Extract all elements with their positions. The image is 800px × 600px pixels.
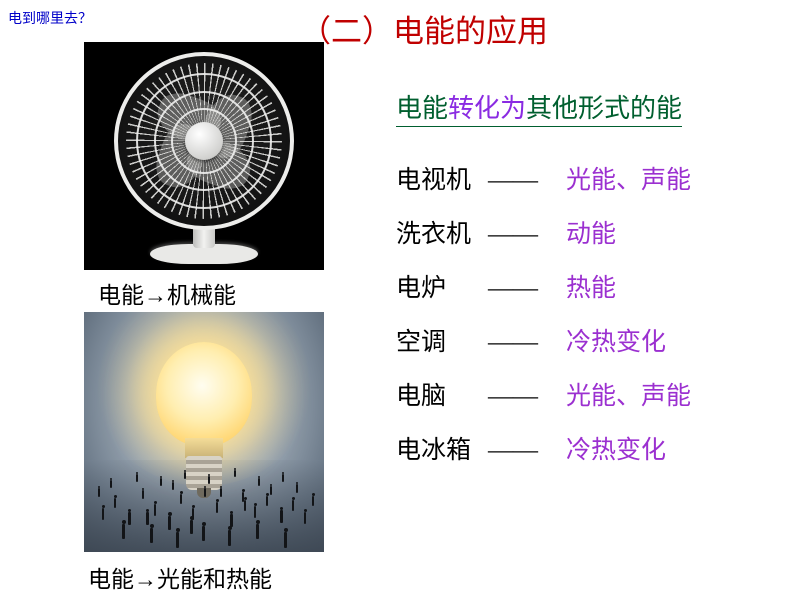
person-head-silhouette [128, 509, 131, 512]
person-head-silhouette [142, 488, 144, 490]
person-silhouette [176, 532, 179, 548]
person-silhouette [128, 512, 131, 525]
appliance-name: 电视机 [396, 160, 488, 196]
list-item: 电视机 —— 光能、声能 [396, 160, 796, 214]
person-head-silhouette [190, 516, 194, 520]
dash-separator: —— [488, 167, 566, 195]
person-silhouette [202, 526, 205, 541]
energy-result: 冷热变化 [566, 430, 796, 466]
person-silhouette [270, 486, 272, 495]
energy-result: 动能 [566, 214, 796, 250]
person-head-silhouette [220, 486, 222, 488]
person-silhouette [142, 490, 144, 499]
person-head-silhouette [216, 499, 219, 502]
person-head-silhouette [230, 511, 233, 514]
person-head-silhouette [312, 493, 315, 496]
person-head-silhouette [168, 512, 172, 516]
person-head-silhouette [254, 503, 257, 506]
dash-separator: —— [488, 329, 566, 357]
appliance-name: 空调 [396, 322, 488, 358]
slide-canvas: 电到哪里去？ （二）电能的应用 电能→机械能 电能→光能和热能 [0, 0, 800, 600]
bulb-glass-shape [156, 342, 252, 446]
person-silhouette [244, 500, 246, 511]
appliance-name: 洗衣机 [396, 214, 488, 250]
dash-separator: —— [488, 275, 566, 303]
person-head-silhouette [208, 474, 210, 476]
person-head-silhouette [98, 486, 100, 488]
person-silhouette [98, 488, 100, 497]
person-head-silhouette [184, 470, 186, 472]
person-silhouette [282, 474, 284, 482]
person-head-silhouette [154, 501, 157, 504]
fan-hub-shape [185, 122, 223, 160]
person-silhouette [122, 524, 125, 539]
person-silhouette [234, 470, 236, 477]
light-bulb-caption: 电能→光能和热能 [88, 560, 272, 594]
person-head-silhouette [280, 507, 283, 510]
title-text: 电能的应用 [393, 14, 548, 49]
person-silhouette [312, 496, 314, 506]
person-silhouette [180, 494, 182, 504]
energy-conversion-list: 电视机 —— 光能、声能 洗衣机 —— 动能 电炉 —— 热能 空调 —— 冷热… [396, 160, 796, 484]
list-item: 空调 —— 冷热变化 [396, 322, 796, 376]
person-head-silhouette [284, 528, 288, 532]
person-silhouette [136, 474, 138, 482]
person-silhouette [146, 512, 149, 525]
person-silhouette [172, 482, 174, 490]
light-bulb-photo [84, 312, 324, 552]
person-head-silhouette [102, 505, 105, 508]
person-silhouette [168, 516, 171, 530]
electric-fan-caption: 电能→机械能 [98, 276, 236, 310]
person-head-silhouette [256, 520, 260, 524]
person-silhouette [184, 472, 186, 479]
person-head-silhouette [296, 482, 298, 484]
subheading-part2: 其他形式的能 [526, 94, 682, 123]
person-head-silhouette [180, 491, 183, 494]
bulb-screw-base-shape [186, 456, 222, 490]
energy-result: 光能、声能 [566, 160, 796, 196]
person-silhouette [258, 478, 260, 486]
person-silhouette [284, 532, 287, 548]
person-silhouette [204, 488, 206, 497]
person-head-silhouette [270, 484, 272, 486]
person-silhouette [280, 510, 283, 523]
person-head-silhouette [114, 495, 117, 498]
person-head-silhouette [204, 486, 206, 488]
energy-result: 冷热变化 [566, 322, 796, 358]
person-head-silhouette [258, 476, 260, 478]
fan-head-shape [114, 52, 294, 230]
person-silhouette [266, 496, 268, 506]
person-head-silhouette [176, 528, 180, 532]
person-silhouette [230, 514, 233, 527]
person-silhouette [160, 478, 162, 486]
person-head-silhouette [282, 472, 284, 474]
appliance-name: 电炉 [396, 268, 488, 304]
list-item: 洗衣机 —— 动能 [396, 214, 796, 268]
list-item: 电炉 —— 热能 [396, 268, 796, 322]
person-head-silhouette [266, 493, 269, 496]
energy-result: 光能、声能 [566, 376, 796, 412]
person-head-silhouette [110, 478, 112, 480]
corner-note: 电到哪里去？ [8, 8, 92, 28]
dash-separator: —— [488, 221, 566, 249]
person-silhouette [154, 504, 156, 516]
list-item: 电脑 —— 光能、声能 [396, 376, 796, 430]
person-head-silhouette [292, 497, 295, 500]
person-head-silhouette [228, 526, 232, 530]
list-item: 电冰箱 —— 冷热变化 [396, 430, 796, 484]
section-subheading: 电能转化为其他形式的能 [396, 88, 682, 127]
page-title: （二）电能的应用 [300, 6, 548, 51]
person-silhouette [110, 480, 112, 488]
person-head-silhouette [234, 468, 236, 470]
person-head-silhouette [122, 520, 126, 524]
person-silhouette [228, 530, 231, 546]
electric-fan-photo [84, 42, 324, 270]
dash-separator: —— [488, 437, 566, 465]
person-silhouette [208, 476, 210, 484]
person-silhouette [114, 498, 116, 508]
person-head-silhouette [146, 509, 149, 512]
person-head-silhouette [202, 522, 206, 526]
person-silhouette [190, 520, 193, 534]
person-silhouette [254, 506, 256, 518]
person-silhouette [256, 524, 259, 539]
person-head-silhouette [150, 524, 154, 528]
person-head-silhouette [160, 476, 162, 478]
person-head-silhouette [242, 489, 245, 492]
person-silhouette [216, 502, 218, 513]
bulb-neck-shape [185, 438, 223, 458]
person-head-silhouette [244, 497, 247, 500]
subheading-part1: 电能 [396, 94, 448, 123]
person-silhouette [220, 488, 222, 497]
dash-separator: —— [488, 383, 566, 411]
person-silhouette [296, 484, 298, 493]
appliance-name: 电冰箱 [396, 430, 488, 466]
person-silhouette [292, 500, 294, 511]
subheading-accent: 转化为 [448, 94, 526, 123]
person-silhouette [304, 512, 306, 524]
appliance-name: 电脑 [396, 376, 488, 412]
person-head-silhouette [192, 505, 195, 508]
person-head-silhouette [304, 509, 307, 512]
person-silhouette [102, 508, 104, 520]
energy-result: 热能 [566, 268, 796, 304]
person-head-silhouette [172, 480, 174, 482]
person-head-silhouette [136, 472, 138, 474]
person-silhouette [150, 528, 153, 543]
